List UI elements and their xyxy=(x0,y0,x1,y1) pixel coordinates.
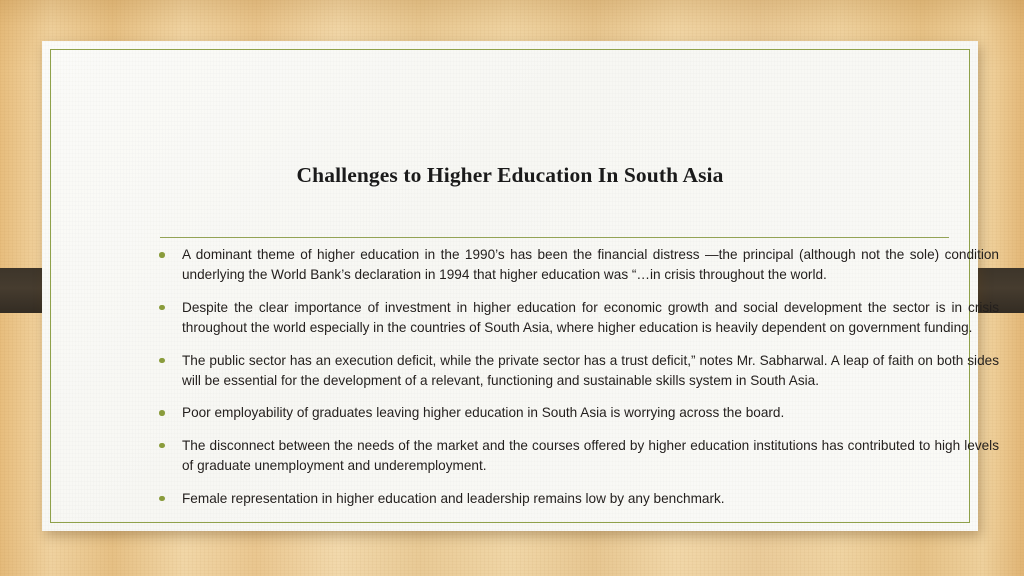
list-item-text: Poor employability of graduates leaving … xyxy=(182,405,784,420)
slide-card: Challenges to Higher Education In South … xyxy=(42,41,978,531)
bullet-dot-icon xyxy=(159,305,165,311)
list-item: Female representation in higher educatio… xyxy=(156,489,999,509)
list-item: The public sector has an execution defic… xyxy=(156,351,999,392)
list-item-text: The public sector has an execution defic… xyxy=(182,353,999,388)
list-item: Poor employability of graduates leaving … xyxy=(156,403,999,423)
bullet-dot-icon xyxy=(159,252,165,258)
list-item: A dominant theme of higher education in … xyxy=(156,245,999,286)
bullet-dot-icon xyxy=(159,443,165,449)
slide-title: Challenges to Higher Education In South … xyxy=(42,163,978,188)
slide-canvas: Challenges to Higher Education In South … xyxy=(0,0,1024,576)
list-item-text: Despite the clear importance of investme… xyxy=(182,300,999,335)
bullet-dot-icon xyxy=(159,496,165,502)
bullet-list: A dominant theme of higher education in … xyxy=(156,245,999,509)
list-item: Despite the clear importance of investme… xyxy=(156,298,999,339)
list-item-text: A dominant theme of higher education in … xyxy=(182,247,999,282)
bullet-dot-icon xyxy=(159,410,165,416)
list-item: The disconnect between the needs of the … xyxy=(156,436,999,477)
list-item-text: Female representation in higher educatio… xyxy=(182,491,725,506)
bullet-dot-icon xyxy=(159,358,165,364)
list-item-text: The disconnect between the needs of the … xyxy=(182,438,999,473)
title-divider-rule xyxy=(160,237,949,238)
